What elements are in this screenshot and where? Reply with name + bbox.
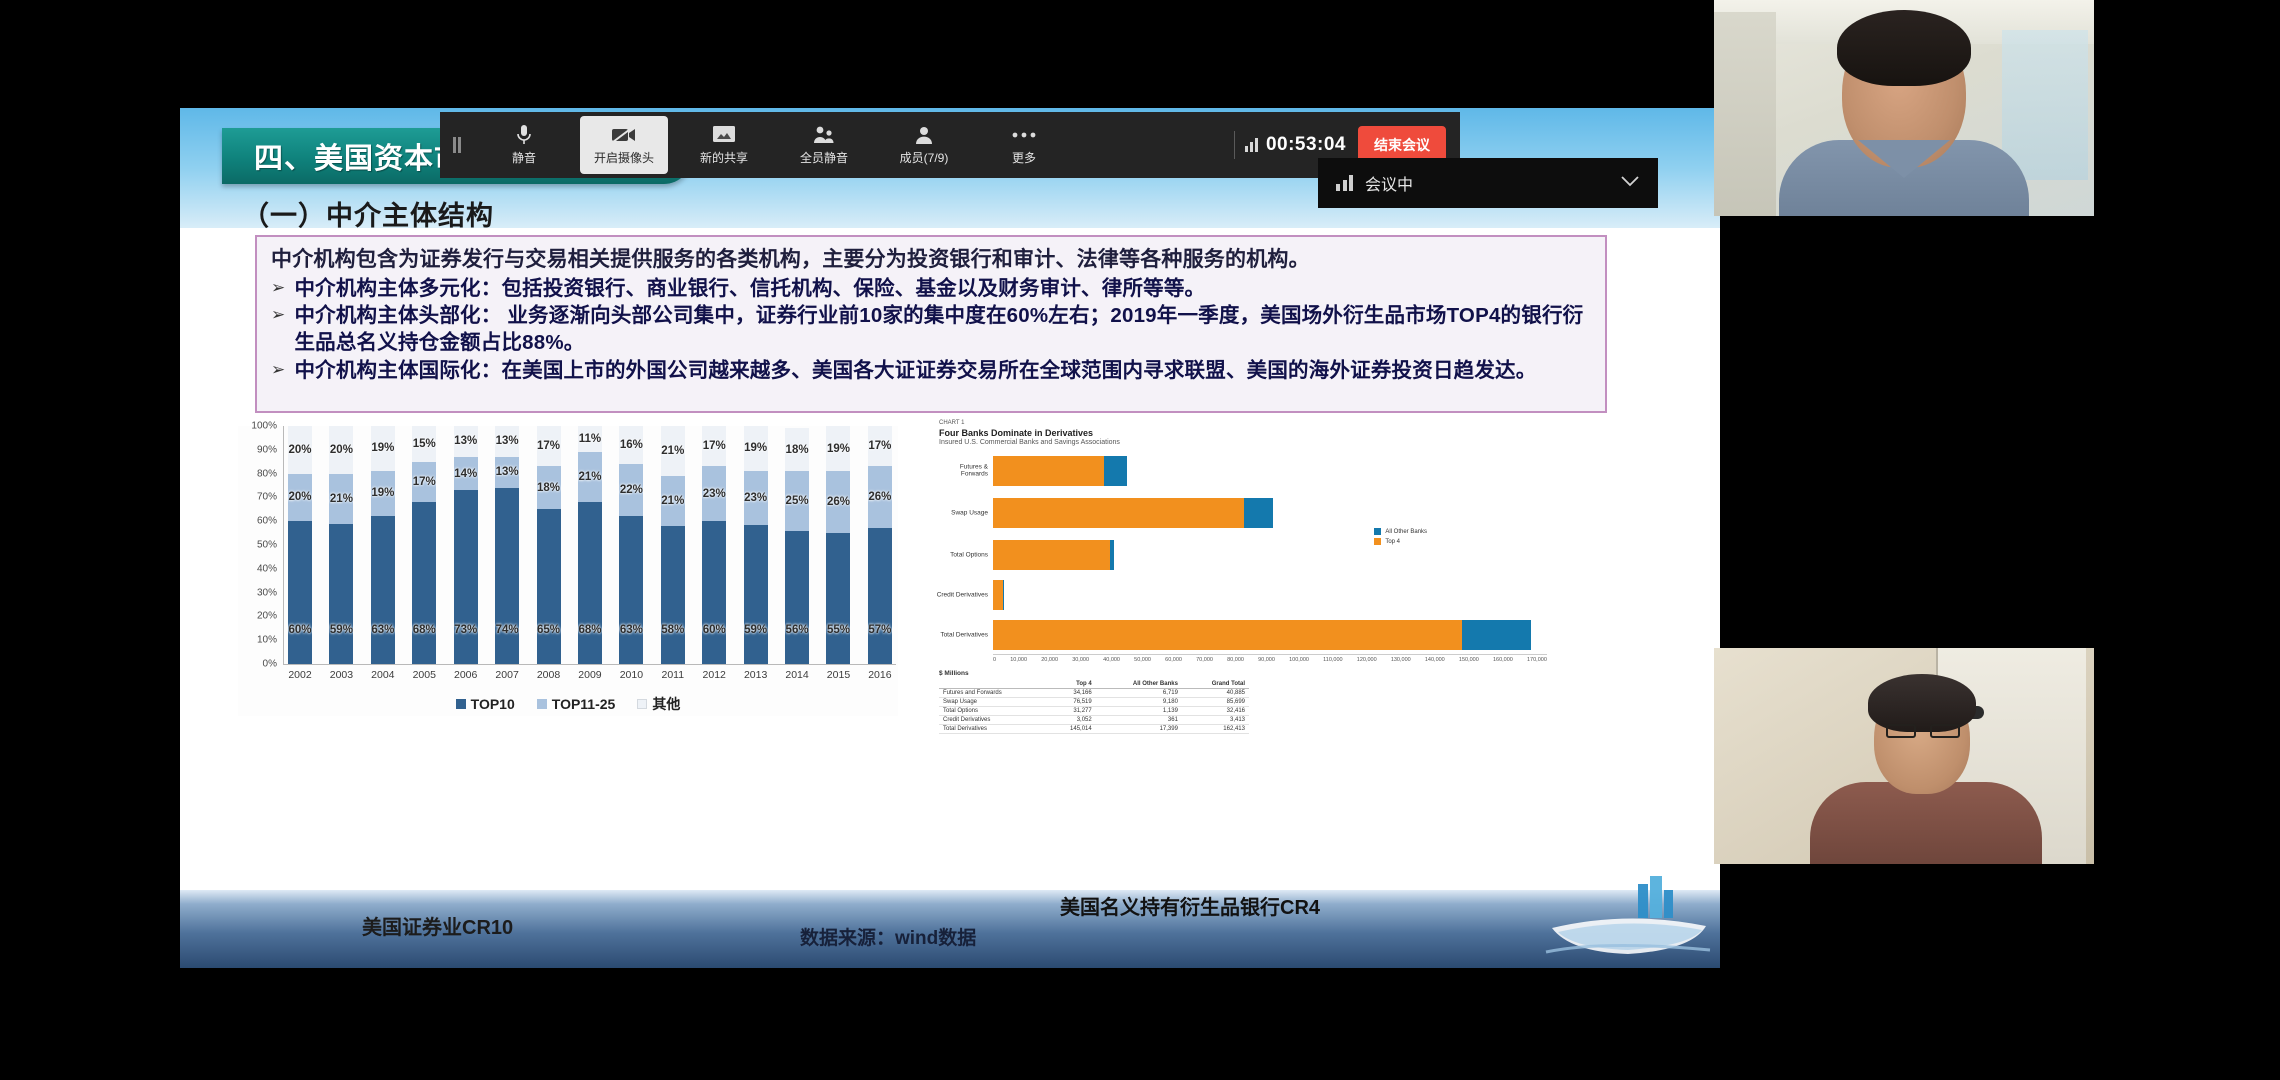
table-cell: Total Options bbox=[939, 707, 1047, 716]
chart-bar-segment: 16% bbox=[619, 426, 643, 464]
chart-x-tick: 2014 bbox=[785, 669, 809, 681]
bullet-arrow-icon: ➢ bbox=[271, 303, 285, 328]
bullet-arrow-icon: ➢ bbox=[271, 358, 285, 383]
chart-bar-value-label: 18% bbox=[786, 444, 809, 456]
chart-category-label: Total Derivatives bbox=[932, 631, 988, 638]
toolbar-divider bbox=[1234, 131, 1235, 159]
chart-y-tick: 40% bbox=[257, 563, 277, 574]
chart-bar-segment: 22% bbox=[619, 464, 643, 516]
chart-x-tick: 140,000 bbox=[1425, 657, 1445, 663]
chart-x-tick: 160,000 bbox=[1493, 657, 1513, 663]
mute-all-button[interactable]: 全员静音 bbox=[780, 116, 868, 174]
table-column-header: Grand Total bbox=[1182, 680, 1249, 689]
chart-category-label: Total Options bbox=[932, 551, 988, 558]
bullet-text: 中介机构主体头部化： 业务逐渐向头部公司集中，证券行业前10家的集中度在60%左… bbox=[294, 303, 1591, 356]
chart-bar-column: 11%21%68% bbox=[578, 426, 602, 664]
chart-category-label: Swap Usage bbox=[932, 509, 988, 516]
chart-bar-segment: 19% bbox=[371, 471, 395, 516]
video-camera-off-icon bbox=[611, 124, 637, 146]
table-cell: 162,413 bbox=[1182, 725, 1249, 734]
table-cell: 3,413 bbox=[1182, 716, 1249, 725]
chart-bar-value-label: 60% bbox=[288, 624, 311, 636]
chart-bar-segment bbox=[993, 620, 1462, 650]
chart-legend: TOP10TOP11-25其他 bbox=[238, 694, 898, 714]
chart-x-tick: 70,000 bbox=[1196, 657, 1213, 663]
chart-bar-value-label: 19% bbox=[371, 442, 394, 454]
chart-bar-value-label: 68% bbox=[413, 624, 436, 636]
start-video-button[interactable]: 开启摄像头 bbox=[580, 116, 668, 174]
chart-bar-segment: 56% bbox=[785, 531, 809, 664]
chart-bar-value-label: 56% bbox=[786, 624, 809, 636]
slide-source-note: 数据来源：wind数据 bbox=[800, 923, 976, 950]
boat-city-logo-icon bbox=[1542, 866, 1712, 962]
chart-bar-column: 17%18%65% bbox=[537, 426, 561, 664]
chart-legend-label: Top 4 bbox=[1385, 539, 1400, 545]
chart-bar-value-label: 14% bbox=[454, 468, 477, 480]
chart-bar-column: 19%26%55% bbox=[826, 426, 850, 664]
chart-bar-value-label: 11% bbox=[579, 433, 601, 445]
chart-legend-swatch bbox=[637, 699, 647, 709]
participant-video-top[interactable] bbox=[1714, 0, 2094, 216]
chart-bar-segment: 63% bbox=[371, 516, 395, 664]
table-cell: 6,719 bbox=[1096, 689, 1182, 698]
microphone-icon bbox=[516, 124, 532, 146]
chart-bar-value-label: 26% bbox=[868, 491, 891, 503]
chart-bar-segment: 11% bbox=[578, 426, 602, 452]
chart-bar-segment: 13% bbox=[454, 426, 478, 457]
chart-y-tick: 30% bbox=[257, 587, 277, 598]
chart-bar-segment bbox=[1003, 580, 1004, 610]
chart-x-tick: 2008 bbox=[537, 669, 561, 681]
chart-bar-value-label: 17% bbox=[413, 476, 436, 488]
chart-bar-segment: 58% bbox=[661, 526, 685, 664]
table-body: Futures and Forwards34,1666,71940,885Swa… bbox=[939, 689, 1249, 734]
chart-bar-segment: 55% bbox=[826, 533, 850, 664]
chart-bar-value-label: 63% bbox=[371, 624, 394, 636]
chart-bar-column: 15%17%68% bbox=[412, 426, 436, 664]
chart-x-tick: 2006 bbox=[454, 669, 478, 681]
table-cell: 361 bbox=[1096, 716, 1182, 725]
table-cell: 85,699 bbox=[1182, 698, 1249, 707]
chart-y-tick: 80% bbox=[257, 468, 277, 479]
chart-bar-segment: 65% bbox=[537, 509, 561, 664]
chart-category-label: Credit Derivatives bbox=[932, 591, 988, 598]
table-cell: 76,519 bbox=[1047, 698, 1095, 707]
textbox-bullet-item: ➢ 中介机构主体头部化： 业务逐渐向头部公司集中，证券行业前10家的集中度在60… bbox=[271, 303, 1591, 356]
chart-bar-segment: 60% bbox=[702, 521, 726, 664]
table-cell: 9,180 bbox=[1096, 698, 1182, 707]
table-cell: 145,014 bbox=[1047, 725, 1095, 734]
chart-x-tick: 120,000 bbox=[1357, 657, 1377, 663]
chart-bar-value-label: 68% bbox=[578, 624, 601, 636]
chart-bar-value-label: 60% bbox=[703, 624, 726, 636]
chart-x-axis-line bbox=[993, 654, 1547, 655]
table-cell: 40,885 bbox=[1182, 689, 1249, 698]
chart-bar-value-label: 58% bbox=[661, 624, 684, 636]
table-column-header: Top 4 bbox=[1047, 680, 1095, 689]
start-video-button-label: 开启摄像头 bbox=[594, 149, 654, 166]
chart-x-tick: 110,000 bbox=[1323, 657, 1342, 663]
chart-plot-area: Futures & ForwardsSwap UsageTotal Option… bbox=[993, 454, 1547, 654]
chart-bar-value-label: 16% bbox=[620, 439, 643, 451]
chart-legend-label: All Other Banks bbox=[1385, 529, 1427, 535]
chart-legend-swatch bbox=[456, 699, 466, 709]
chart-x-tick: 40,000 bbox=[1103, 657, 1120, 663]
chart-bar-column: 20%21%59% bbox=[329, 426, 353, 664]
chart-x-tick: 2002 bbox=[288, 669, 312, 681]
chart-x-tick: 2012 bbox=[702, 669, 726, 681]
meeting-timer: 00:53:04 bbox=[1245, 134, 1346, 156]
bullet-text: 中介机构主体多元化：包括投资银行、商业银行、信托机构、保险、基金以及财务审计、律… bbox=[294, 276, 1205, 303]
chart-x-tick: 20,000 bbox=[1041, 657, 1058, 663]
chart-x-tick: 150,000 bbox=[1459, 657, 1479, 663]
chart-bar-value-label: 59% bbox=[744, 624, 767, 636]
table-cell: Total Derivatives bbox=[939, 725, 1047, 734]
chart-bar-segment: 21% bbox=[578, 452, 602, 502]
table-row: Total Options31,2771,13932,416 bbox=[939, 707, 1249, 716]
table-row: Futures and Forwards34,1666,71940,885 bbox=[939, 689, 1249, 698]
shared-slide-area: 四、美国资本市场参与者结构 （一）中介主体结构 中介机构包含为证券发行与交易相关… bbox=[180, 108, 1720, 968]
screen-share-icon bbox=[712, 124, 736, 146]
table-cell: Swap Usage bbox=[939, 698, 1047, 707]
chart-bar-value-label: 21% bbox=[578, 471, 601, 483]
chart-bar-value-label: 21% bbox=[661, 495, 684, 507]
meeting-toolbar[interactable]: 静音 开启摄像头 新的共享 全员静音 成员(7/9) bbox=[440, 112, 1460, 178]
chart-bar-column: 16%22%63% bbox=[619, 426, 643, 664]
chart-bar-segment bbox=[993, 540, 1110, 570]
chart-x-axis-line bbox=[283, 664, 896, 665]
chart-y-tick: 90% bbox=[257, 444, 277, 455]
stacked-bar-chart-cr10: 0%10%20%30%40%50%60%70%80%90%100% 20%20%… bbox=[238, 426, 898, 716]
meeting-status-label: 会议中 bbox=[1365, 171, 1413, 195]
chart-bar-segment: 74% bbox=[495, 488, 519, 664]
mute-button-label: 静音 bbox=[512, 149, 536, 166]
table-row: Swap Usage76,5199,18085,699 bbox=[939, 698, 1249, 707]
chart-bar-value-label: 74% bbox=[496, 624, 519, 636]
chart-x-tick: 100,000 bbox=[1289, 657, 1309, 663]
chart-bar-segment: 26% bbox=[826, 471, 850, 533]
participants-button[interactable]: 成员(7/9) bbox=[880, 116, 968, 174]
chart-x-tick: 60,000 bbox=[1165, 657, 1182, 663]
chart-bar-value-label: 19% bbox=[744, 442, 767, 454]
chart-bar-value-label: 21% bbox=[330, 493, 353, 505]
chart-bar-column: 19%19%63% bbox=[371, 426, 395, 664]
textbox-bullet-item: ➢ 中介机构主体多元化：包括投资银行、商业银行、信托机构、保险、基金以及财务审计… bbox=[271, 276, 1591, 303]
chart-caption-left: 美国证券业CR10 bbox=[362, 911, 513, 940]
chart-legend-swatch bbox=[1374, 528, 1381, 535]
chart-legend-item: TOP10 bbox=[456, 696, 515, 712]
video-frame bbox=[1714, 0, 2094, 216]
chart-bar-segment: 26% bbox=[868, 466, 892, 528]
chart-bar-value-label: 23% bbox=[744, 492, 767, 504]
chart-x-tick: 2010 bbox=[619, 669, 643, 681]
table-cell: 3,052 bbox=[1047, 716, 1095, 725]
table-cell: Credit Derivatives bbox=[939, 716, 1047, 725]
chart-bar-value-label: 19% bbox=[371, 487, 394, 499]
chart-x-tick: 10,000 bbox=[1010, 657, 1027, 663]
chart-bar-segment: 18% bbox=[785, 428, 809, 471]
chart-bar-column: 18%25%56% bbox=[785, 426, 809, 664]
mute-all-button-label: 全员静音 bbox=[800, 149, 848, 166]
chart-bar-value-label: 13% bbox=[496, 435, 519, 447]
chevron-down-icon[interactable] bbox=[1620, 174, 1640, 192]
chart-legend-label: TOP11-25 bbox=[552, 696, 616, 712]
chart-bar-value-label: 17% bbox=[703, 440, 726, 452]
chart-bar-row: Total Options bbox=[993, 540, 1114, 570]
chart-bar-row: Swap Usage bbox=[993, 498, 1273, 528]
chart-x-tick: 130,000 bbox=[1391, 657, 1411, 663]
chart-bar-value-label: 59% bbox=[330, 624, 353, 636]
chart-bar-value-label: 20% bbox=[330, 444, 353, 456]
chart-x-tick: 170,000 bbox=[1527, 657, 1547, 663]
chart-bar-value-label: 20% bbox=[288, 444, 311, 456]
table-header-row: Top 4All Other BanksGrand Total bbox=[939, 680, 1249, 689]
chart-bar-segment: 73% bbox=[454, 490, 478, 664]
table-cell: 34,166 bbox=[1047, 689, 1095, 698]
chart-bar-value-label: 65% bbox=[537, 624, 560, 636]
chart-bar-segment: 17% bbox=[412, 462, 436, 502]
table-cell: 17,399 bbox=[1096, 725, 1182, 734]
chart-x-tick: 2005 bbox=[412, 669, 436, 681]
chart-bar-segment: 59% bbox=[329, 524, 353, 664]
chart-x-tick: 2004 bbox=[371, 669, 395, 681]
chart-x-tick: 2003 bbox=[329, 669, 353, 681]
chart-bar-value-label: 19% bbox=[827, 443, 850, 455]
chart-bar-segment bbox=[993, 456, 1104, 486]
chart-bar-row: Total Derivatives bbox=[993, 620, 1531, 650]
table-column-header: All Other Banks bbox=[1096, 680, 1182, 689]
new-share-button[interactable]: 新的共享 bbox=[680, 116, 768, 174]
chart-x-axis-labels: 2002200320042005200620072008200920102011… bbox=[284, 669, 896, 681]
participants-icon bbox=[913, 124, 935, 146]
more-button-label: 更多 bbox=[1012, 149, 1036, 166]
chart-x-tick: 2016 bbox=[868, 669, 892, 681]
table-cell: 32,416 bbox=[1182, 707, 1249, 716]
chart-bar-value-label: 21% bbox=[661, 445, 684, 457]
chart-bar-segment: 20% bbox=[329, 426, 353, 474]
chart-x-tick: 2011 bbox=[661, 669, 685, 681]
chart-x-tick: 2007 bbox=[495, 669, 519, 681]
chart-bar-value-label: 13% bbox=[496, 466, 519, 478]
chart-legend-item: 其他 bbox=[637, 694, 680, 714]
chart-bar-segment: 68% bbox=[412, 502, 436, 664]
chart-bar-segment: 59% bbox=[744, 525, 768, 664]
chart-x-tick: 80,000 bbox=[1227, 657, 1244, 663]
chart-bar-segment bbox=[1462, 620, 1530, 650]
chart-bar-segment: 20% bbox=[288, 426, 312, 474]
mute-all-icon bbox=[812, 124, 836, 146]
chart-bar-column: 17%23%60% bbox=[702, 426, 726, 664]
chart-data-table: Top 4All Other BanksGrand Total Futures … bbox=[939, 680, 1249, 734]
chart-label: CHART 1 bbox=[939, 420, 964, 426]
slide-subtitle: （一）中介主体结构 bbox=[242, 194, 494, 233]
chart-bar-segment: 19% bbox=[826, 426, 850, 471]
horizontal-bar-chart-cr4: CHART 1 Four Banks Dominate in Derivativ… bbox=[925, 418, 1555, 718]
chart-bar-column: 21%21%58% bbox=[661, 426, 685, 664]
chart-bar-column: 19%23%59% bbox=[744, 426, 768, 664]
video-frame bbox=[1714, 648, 2094, 864]
chart-y-tick: 0% bbox=[263, 659, 277, 670]
chart-bar-segment: 25% bbox=[785, 471, 809, 531]
chart-bar-segment: 60% bbox=[288, 521, 312, 664]
chart-bar-segment: 17% bbox=[868, 426, 892, 466]
signal-bars-icon bbox=[1336, 175, 1353, 191]
more-dots-icon bbox=[1011, 124, 1037, 146]
chart-bar-value-label: 13% bbox=[454, 435, 477, 447]
chart-bar-column: 20%20%60% bbox=[288, 426, 312, 664]
table-row: Credit Derivatives3,0523613,413 bbox=[939, 716, 1249, 725]
chart-bar-segment: 23% bbox=[744, 471, 768, 525]
chart-plot-area: 20%20%60%20%21%59%19%19%63%15%17%68%13%1… bbox=[284, 426, 896, 664]
chart-bar-segment: 57% bbox=[868, 528, 892, 664]
bullet-text: 中介机构主体国际化：在美国上市的外国公司越来越多、美国各大证证券交易所在全球范围… bbox=[294, 358, 1536, 385]
chart-legend: All Other BanksTop 4 bbox=[1374, 528, 1427, 548]
meeting-timer-text: 00:53:04 bbox=[1266, 134, 1346, 156]
chart-x-tick: 0 bbox=[993, 657, 996, 663]
textbox-paragraph: 中介机构包含为证券发行与交易相关提供服务的各类机构，主要分为投资银行和审计、法律… bbox=[271, 246, 1591, 274]
more-button[interactable]: 更多 bbox=[980, 116, 1068, 174]
chart-bar-value-label: 18% bbox=[537, 482, 560, 494]
chart-y-axis-labels: 0%10%20%30%40%50%60%70%80%90%100% bbox=[238, 426, 280, 664]
chart-bar-value-label: 73% bbox=[454, 624, 477, 636]
chart-bar-column: 17%26%57% bbox=[868, 426, 892, 664]
mute-button[interactable]: 静音 bbox=[480, 116, 568, 174]
participants-button-label: 成员(7/9) bbox=[900, 149, 949, 166]
chart-bar-segment: 63% bbox=[619, 516, 643, 664]
chart-bar-segment: 21% bbox=[329, 474, 353, 524]
chart-bar-segment: 13% bbox=[495, 426, 519, 457]
chart-y-tick: 20% bbox=[257, 611, 277, 622]
chart-bar-segment: 19% bbox=[744, 426, 768, 471]
textbox-bullet-item: ➢ 中介机构主体国际化：在美国上市的外国公司越来越多、美国各大证证券交易所在全球… bbox=[271, 358, 1591, 385]
chart-bar-segment: 13% bbox=[495, 457, 519, 488]
chart-bar-segment: 18% bbox=[537, 466, 561, 509]
chart-bar-value-label: 17% bbox=[537, 440, 560, 452]
chart-bar-value-label: 63% bbox=[620, 624, 643, 636]
chart-bar-segment: 17% bbox=[702, 426, 726, 466]
table-cell: 1,139 bbox=[1096, 707, 1182, 716]
slide-textbox: 中介机构包含为证券发行与交易相关提供服务的各类机构，主要分为投资银行和审计、法律… bbox=[255, 235, 1607, 413]
chart-bar-column: 13%13%74% bbox=[495, 426, 519, 664]
chart-bar-segment: 20% bbox=[288, 474, 312, 522]
textbox-bullet-list: ➢ 中介机构主体多元化：包括投资银行、商业银行、信托机构、保险、基金以及财务审计… bbox=[271, 276, 1591, 385]
chart-x-tick: 90,000 bbox=[1258, 657, 1275, 663]
chart-y-tick: 60% bbox=[257, 516, 277, 527]
chart-bar-segment bbox=[1244, 498, 1273, 528]
chart-y-tick: 100% bbox=[251, 421, 277, 432]
bullet-arrow-icon: ➢ bbox=[271, 276, 285, 301]
participant-video-bottom[interactable] bbox=[1714, 648, 2094, 864]
chart-x-tick: 2013 bbox=[744, 669, 768, 681]
chart-bar-segment bbox=[993, 580, 1003, 610]
chart-caption-right: 美国名义持有衍生品银行CR4 bbox=[1060, 891, 1320, 920]
chart-bar-segment: 14% bbox=[454, 457, 478, 490]
chart-bar-value-label: 55% bbox=[827, 624, 850, 636]
chart-bar-row: Futures & Forwards bbox=[993, 456, 1127, 486]
chart-bar-segment bbox=[1104, 456, 1127, 486]
chart-bar-segment: 68% bbox=[578, 502, 602, 664]
drag-handle-icon[interactable] bbox=[440, 112, 474, 178]
chart-heading: Four Banks Dominate in Derivatives bbox=[939, 428, 1093, 438]
chart-x-tick: 50,000 bbox=[1134, 657, 1151, 663]
chart-bar-value-label: 23% bbox=[703, 488, 726, 500]
chart-bar-value-label: 26% bbox=[827, 496, 850, 508]
chart-x-tick: 30,000 bbox=[1072, 657, 1089, 663]
chart-bar-segment bbox=[1110, 540, 1113, 570]
chart-legend-item: All Other Banks bbox=[1374, 528, 1427, 535]
chart-bar-value-label: 17% bbox=[868, 440, 891, 452]
chart-bar-row: Credit Derivatives bbox=[993, 580, 1004, 610]
chart-bar-segment bbox=[993, 498, 1244, 528]
chart-bar-segment: 15% bbox=[412, 426, 436, 462]
chart-legend-item: Top 4 bbox=[1374, 538, 1427, 545]
table-cell: Futures and Forwards bbox=[939, 689, 1047, 698]
chart-x-axis-ticks: 010,00020,00030,00040,00050,00060,00070,… bbox=[993, 657, 1547, 663]
chart-bar-value-label: 57% bbox=[868, 624, 891, 636]
chart-x-tick: 2015 bbox=[826, 669, 850, 681]
chart-bar-segment: 21% bbox=[661, 476, 685, 526]
table-row: Total Derivatives145,01417,399162,413 bbox=[939, 725, 1249, 734]
table-cell: 31,277 bbox=[1047, 707, 1095, 716]
chart-bar-value-label: 22% bbox=[620, 484, 643, 496]
chart-y-tick: 70% bbox=[257, 492, 277, 503]
chart-y-tick: 10% bbox=[257, 635, 277, 646]
chart-legend-label: TOP10 bbox=[471, 696, 515, 712]
meeting-status-popup[interactable]: 会议中 bbox=[1318, 158, 1658, 208]
chart-table-title: $ Millions bbox=[939, 670, 969, 677]
chart-bar-segment: 21% bbox=[661, 426, 685, 476]
table-column-header bbox=[939, 680, 1047, 689]
chart-bar-segment: 17% bbox=[537, 426, 561, 466]
chart-bar-segment: 23% bbox=[702, 466, 726, 521]
chart-bar-column: 13%14%73% bbox=[454, 426, 478, 664]
chart-legend-swatch bbox=[1374, 538, 1381, 545]
chart-x-tick: 2009 bbox=[578, 669, 602, 681]
chart-bar-value-label: 15% bbox=[413, 438, 436, 450]
signal-bars-icon bbox=[1245, 138, 1258, 152]
chart-legend-label: 其他 bbox=[652, 694, 680, 714]
chart-category-label: Futures & Forwards bbox=[932, 464, 988, 479]
chart-legend-swatch bbox=[537, 699, 547, 709]
chart-bar-value-label: 20% bbox=[288, 491, 311, 503]
meeting-screen: 四、美国资本市场参与者结构 （一）中介主体结构 中介机构包含为证券发行与交易相关… bbox=[0, 0, 2280, 1080]
chart-y-tick: 50% bbox=[257, 540, 277, 551]
chart-bar-value-label: 25% bbox=[786, 495, 809, 507]
chart-subheading: Insured U.S. Commercial Banks and Saving… bbox=[939, 439, 1120, 446]
chart-legend-item: TOP11-25 bbox=[537, 696, 616, 712]
chart-bar-segment: 19% bbox=[371, 426, 395, 471]
new-share-button-label: 新的共享 bbox=[700, 149, 748, 166]
